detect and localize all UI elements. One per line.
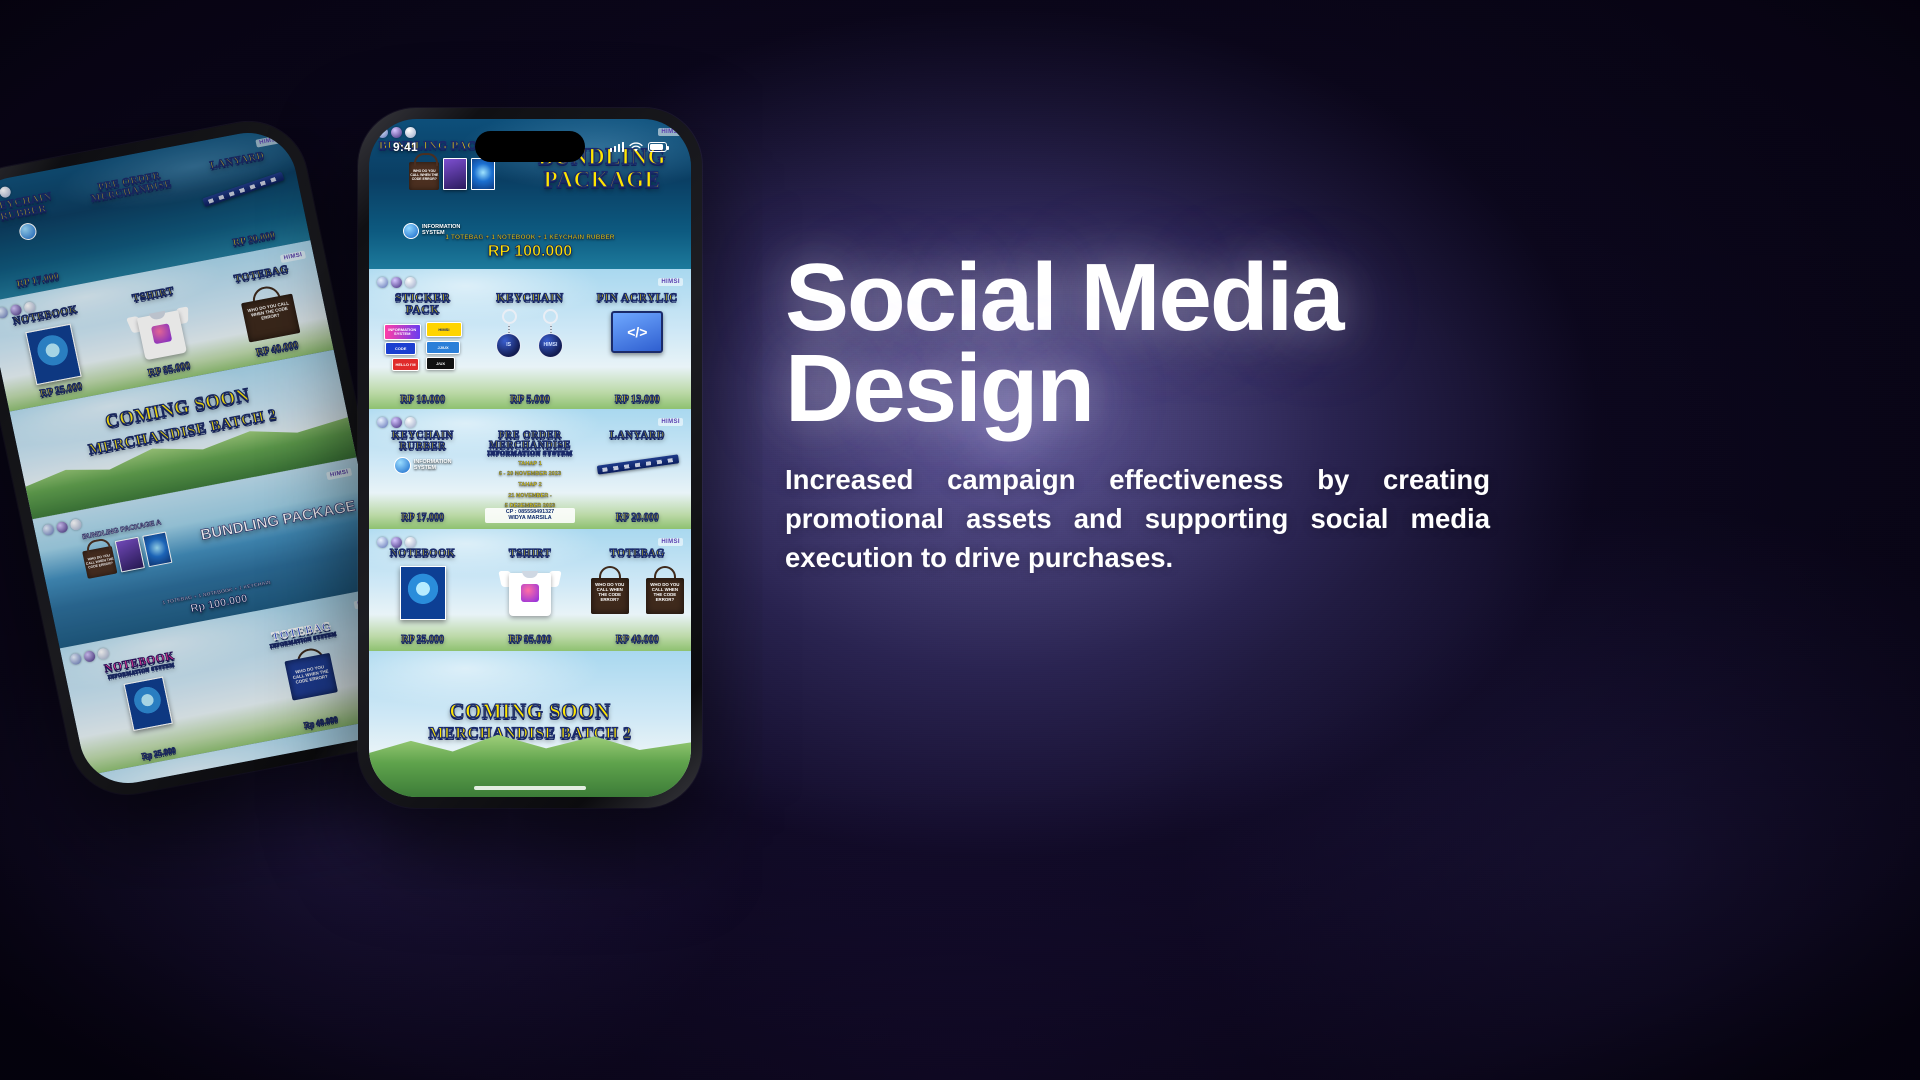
product-price: RP 5.000 <box>476 394 583 405</box>
preorder-detail-line3: TAHAP 2 <box>485 482 575 490</box>
mascot-icon <box>394 457 411 474</box>
totebag-art: WHO DO YOU CALL WHEN THE CODE ERROR? <box>591 566 629 614</box>
notebook-icon <box>115 537 145 573</box>
keychain-item: IS <box>496 309 522 358</box>
description-paragraph: Increased campaign effectiveness by crea… <box>785 460 1490 577</box>
preorder-info-card[interactable]: PRE ORDER MERCHANDISE INFORMATION SYSTEM… <box>476 409 583 529</box>
product-card[interactable]: LANYARD RP 20.000 <box>178 125 311 261</box>
sticker-sheet-art: INFORMATION SYSTEM HIMSI CODE JJ/UX HELL… <box>382 322 464 374</box>
headline-line-2: Design <box>785 343 1505 434</box>
post-apparel-row[interactable]: HIMSI NOTEBOOK RP 25.000 TSHIRT <box>369 529 691 651</box>
keyring-icon <box>502 309 517 324</box>
product-price: RP 25.000 <box>369 634 476 645</box>
phone-front-feed: HIMSI BUNDLING PACKAGE A WHO DO YOU CALL… <box>369 119 691 797</box>
home-indicator[interactable] <box>474 786 586 790</box>
product-card-keychain[interactable]: KEYCHAIN IS HIMSI <box>476 269 583 409</box>
keychain-disc: HIMSI <box>538 333 563 358</box>
product-card-pin-acrylic[interactable]: PIN ACRYLIC </> RP 13.000 <box>584 269 691 409</box>
bundling-title-back: BUNDLING PACKAGE <box>192 497 364 544</box>
product-price: RP 10.000 <box>369 394 476 405</box>
sticker: CODE <box>385 342 416 355</box>
product-card[interactable]: TOTEBAG WHO DO YOU CALL WHEN THE CODE ER… <box>202 240 333 370</box>
product-price: RP 95.000 <box>476 634 583 645</box>
keyring-icon <box>543 309 558 324</box>
totebag-print-text: WHO DO YOU CALL WHEN THE CODE ERROR? <box>594 582 626 603</box>
lanyard-strap <box>596 454 678 474</box>
product-card-totebag[interactable]: TOTEBAG WHO DO YOU CALL WHEN THE CODE ER… <box>584 529 691 651</box>
preorder-cp-line2: WIDYA MARSILA <box>487 515 573 522</box>
product-title: STICKER <box>369 293 476 305</box>
wifi-icon <box>629 142 643 153</box>
totebag-icon: WHO DO YOU CALL WHEN THE CODE ERROR? <box>409 162 439 190</box>
product-title: LANYARD <box>584 431 691 442</box>
sticker: INFORMATION SYSTEM <box>384 324 422 340</box>
product-subtitle: PACK <box>369 305 476 317</box>
tshirt-print <box>521 584 539 602</box>
product-price: RP 13.000 <box>584 394 691 405</box>
post-coming-soon[interactable]: COMING SOON MERCHANDISE BATCH 2 <box>369 651 691 797</box>
product-card-notebook[interactable]: NOTEBOOK RP 25.000 <box>369 529 476 651</box>
phone-front-screen: 9:41 HIMSI BUNDLING PACKAGE A <box>369 119 691 797</box>
product-title: NOTEBOOK <box>369 549 476 560</box>
page-title: Social Media Design <box>785 252 1505 434</box>
keychain-pair-art: IS HIMSI <box>488 309 572 367</box>
product-card-tshirt[interactable]: TSHIRT RP 95.000 <box>476 529 583 651</box>
product-card-lanyard[interactable]: LANYARD RP 20.000 <box>584 409 691 529</box>
cellular-signal-icon <box>610 142 625 152</box>
acrylic-pin-art: </> <box>611 311 663 353</box>
sticker: JJ/UX <box>426 341 460 354</box>
tshirt-art <box>500 566 560 616</box>
sticker: J/UX <box>426 357 455 370</box>
post-preorder-row[interactable]: HIMSI KEYCHAIN RUBBER INFORMATION SYSTEM <box>369 409 691 529</box>
totebag-print-text: WHO DO YOU CALL WHEN THE CODE ERROR? <box>409 162 439 190</box>
preorder-detail-line1: TAHAP 1 <box>485 461 575 469</box>
preorder-title-line3: INFORMATION SYSTEM <box>476 451 583 458</box>
post-sticker-keychain-pin[interactable]: HIMSI STICKER PACK INFORMATION SYSTEM HI… <box>369 269 691 409</box>
preorder-contact-box: CP : 085558491327 WIDYA MARSILA <box>485 508 575 524</box>
totebag-art: WHO DO YOU CALL WHEN THE CODE ERROR? <box>238 281 300 342</box>
phone-mockup-front: 9:41 HIMSI BUNDLING PACKAGE A <box>358 108 702 808</box>
keychain-chain <box>508 324 510 333</box>
product-subtitle: RUBBER <box>369 442 476 453</box>
preorder-cp-line1: CP : 085558491327 <box>487 509 573 516</box>
lanyard-art <box>199 167 288 216</box>
notebook-art <box>400 566 446 620</box>
product-price: RP 20.000 <box>584 512 691 523</box>
brand-dots-icon <box>42 518 83 536</box>
copy-block: Social Media Design Increased campaign e… <box>785 252 1505 578</box>
totebag-art: WHO DO YOU CALL WHEN THE CODE ERROR? <box>283 645 338 701</box>
bundling-combo-text: 1 TOTEBAG + 1 NOTEBOOK + 1 KEYCHAIN RUBB… <box>369 234 691 241</box>
notebook-art <box>123 676 172 730</box>
product-price: RP 40.000 <box>584 634 691 645</box>
badge-label: INFORMATION SYSTEM <box>414 460 452 471</box>
sticker: HELLO I'M <box>392 358 420 371</box>
totebag-icon: WHO DO YOU CALL WHEN THE CODE ERROR? <box>82 546 117 579</box>
keychain-chain <box>550 324 552 333</box>
mascot-icon <box>17 222 37 242</box>
bundling-big-title-line2: PACKAGE <box>515 168 689 191</box>
code-glyph-icon: </> <box>627 324 647 340</box>
product-title: PIN ACRYLIC <box>584 293 691 305</box>
status-time: 9:41 <box>393 140 418 154</box>
keychain-item: HIMSI <box>538 309 564 358</box>
product-title: KEYCHAIN <box>476 293 583 305</box>
product-card-sticker-pack[interactable]: STICKER PACK INFORMATION SYSTEM HIMSI CO… <box>369 269 476 409</box>
preorder-detail-line2: 6 - 20 NOVEMBER 2023 <box>485 471 575 479</box>
preorder-detail-line4: 21 NOVEMBER - <box>485 493 575 501</box>
tshirt-art <box>126 301 195 361</box>
product-title: TSHIRT <box>476 549 583 560</box>
lanyard-art <box>597 450 679 484</box>
sticker: HIMSI <box>426 322 462 337</box>
totebag-print-text: WHO DO YOU CALL WHEN THE CODE ERROR? <box>649 582 681 603</box>
product-card-keychain-rubber[interactable]: KEYCHAIN RUBBER INFORMATION SYSTEM RP 17… <box>369 409 476 529</box>
product-title: TOTEBAG <box>584 549 691 560</box>
himsi-logo: HIMSI <box>326 468 352 480</box>
notebook-icon <box>142 531 172 567</box>
status-bar: 9:41 <box>369 131 691 163</box>
totebag-art: WHO DO YOU CALL WHEN THE CODE ERROR? <box>646 566 684 614</box>
information-system-badge: INFORMATION SYSTEM <box>369 457 476 474</box>
notebook-art <box>25 323 81 384</box>
coming-soon-line1: COMING SOON <box>369 701 691 721</box>
badge-label-line2: SYSTEM <box>414 466 452 472</box>
product-price: RP 17.000 <box>369 512 476 523</box>
bundling-price: RP 100.000 <box>369 243 691 261</box>
battery-icon <box>648 142 667 152</box>
keychain-disc: IS <box>496 333 521 358</box>
product-title: KEYCHAIN <box>369 431 476 442</box>
coming-soon-line2: MERCHANDISE BATCH 2 <box>369 726 691 742</box>
